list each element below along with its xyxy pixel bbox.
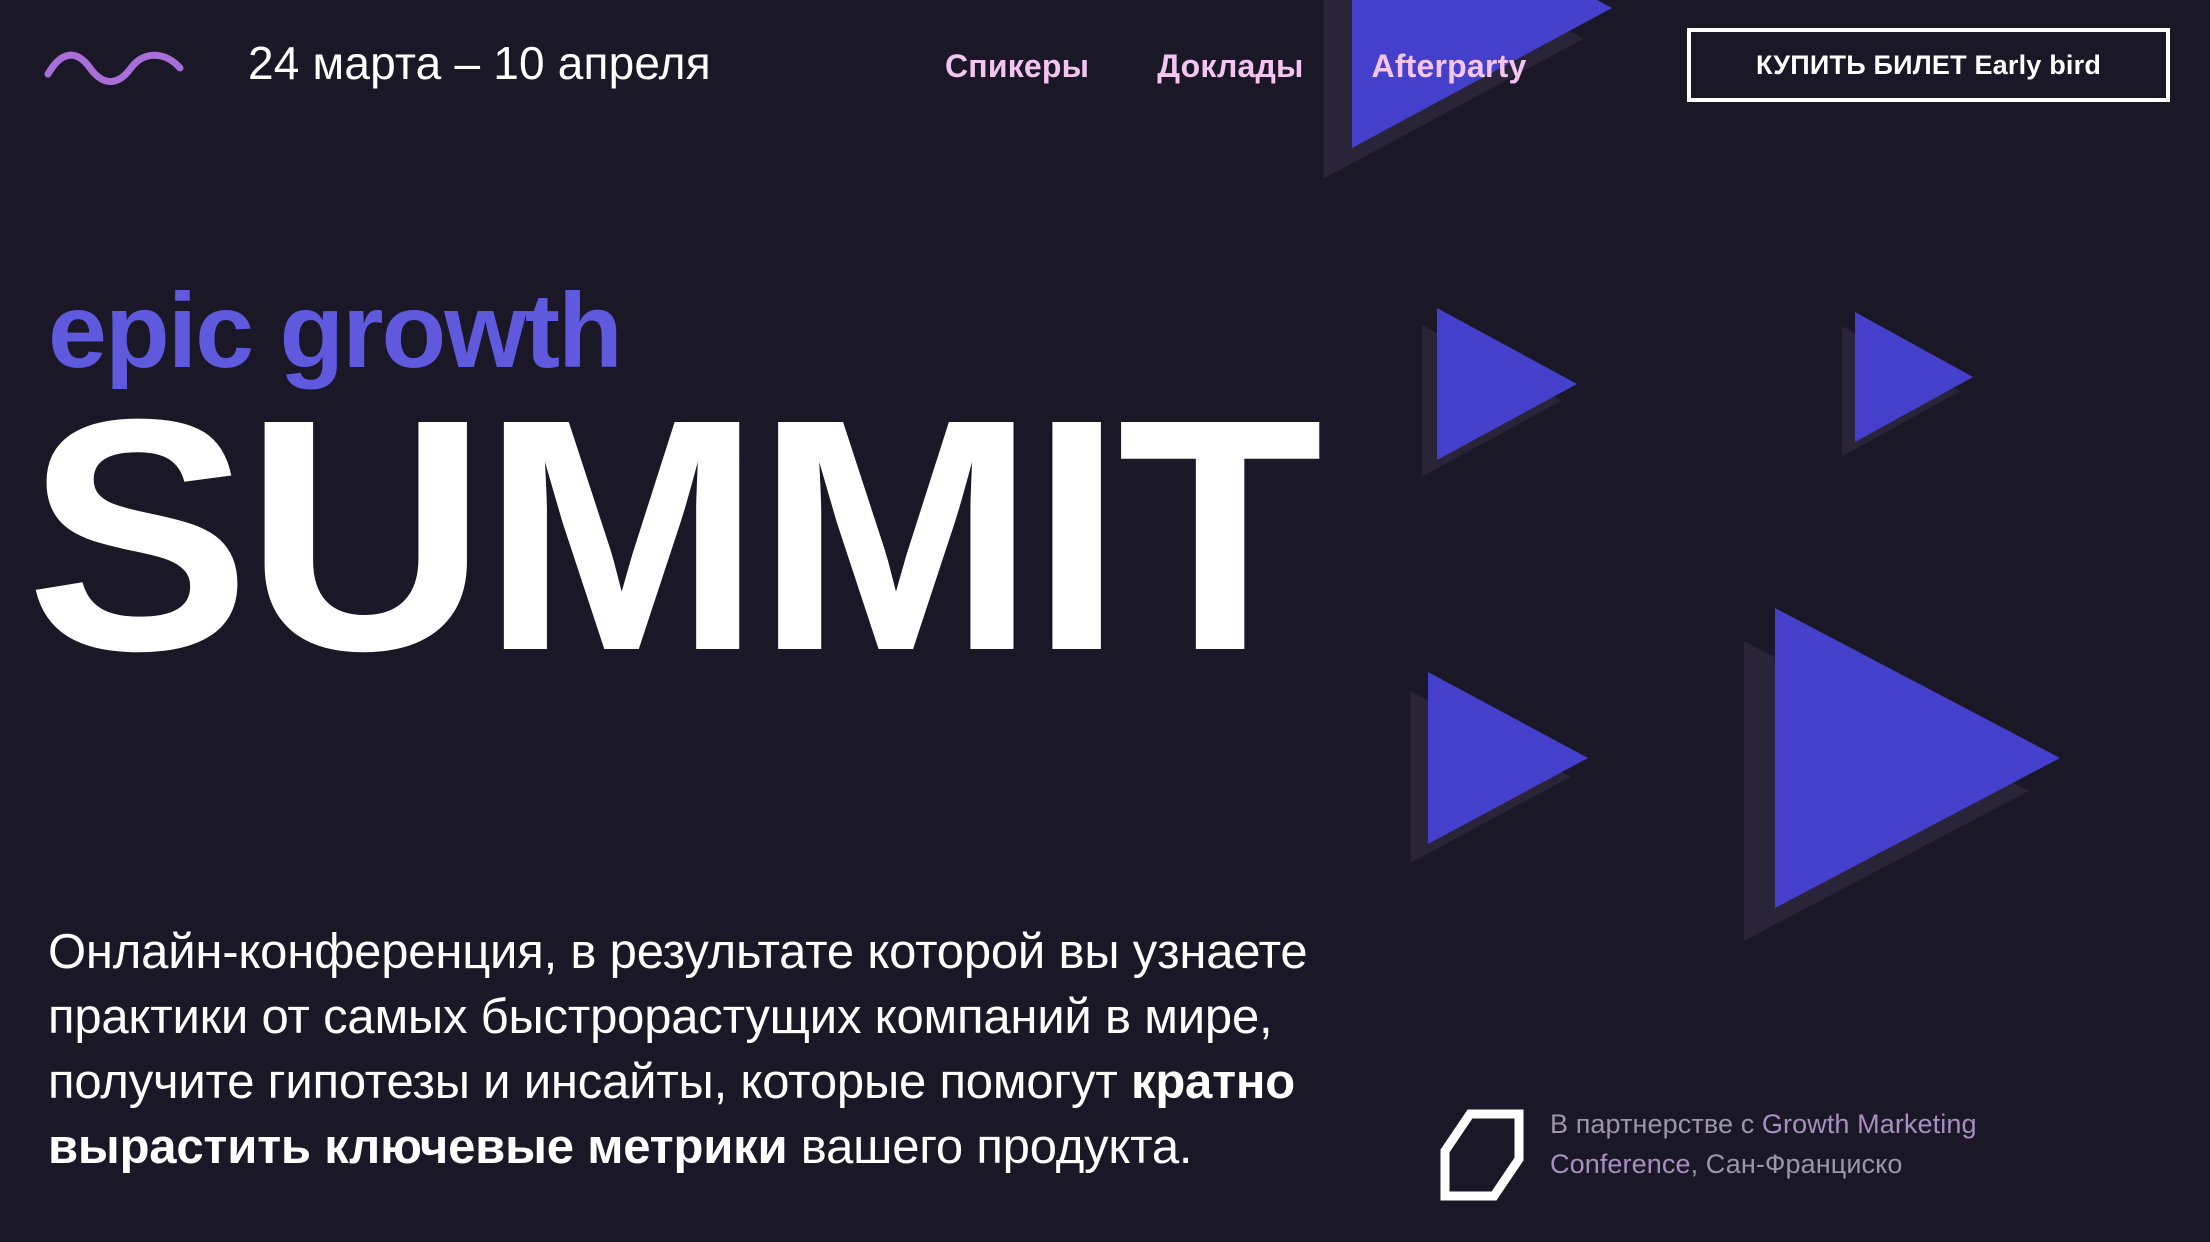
triangle-fill	[1855, 312, 1973, 442]
partner-prefix: В партнерстве с	[1550, 1109, 1762, 1139]
play-triangle-upper-left	[1437, 308, 1577, 460]
partner-text: В партнерстве с Growth Marketing Confere…	[1550, 1105, 2020, 1185]
lede-part1: Онлайн-конференция, в результате которой…	[48, 925, 1307, 1109]
play-triangle-large	[1775, 608, 2060, 908]
triangle-fill	[1428, 672, 1588, 844]
wave-icon[interactable]	[44, 48, 184, 88]
main-nav: Спикеры Доклады Afterparty	[945, 48, 1526, 85]
page-title: SUMMIT	[26, 400, 1317, 671]
nav-link-talks[interactable]: Доклады	[1157, 48, 1303, 85]
hero-description: Онлайн-конференция, в результате которой…	[48, 920, 1448, 1181]
play-triangle-upper-right	[1855, 312, 1973, 442]
event-date-range: 24 марта – 10 апреля	[248, 36, 711, 90]
play-triangle-lower-left	[1428, 672, 1588, 844]
site-header: 24 марта – 10 апреля Спикеры Доклады Aft…	[0, 0, 2210, 130]
hexagon-outline-icon	[1440, 1109, 1524, 1201]
partner-block: В партнерстве с Growth Marketing Confere…	[1440, 1105, 2020, 1201]
lede-part2: вашего продукта.	[787, 1120, 1192, 1174]
triangle-fill	[1437, 308, 1577, 460]
nav-link-speakers[interactable]: Спикеры	[945, 48, 1089, 85]
buy-ticket-label: КУПИТЬ БИЛЕТ Early bird	[1756, 50, 2101, 81]
buy-ticket-button[interactable]: КУПИТЬ БИЛЕТ Early bird	[1687, 28, 2170, 102]
triangle-fill	[1775, 608, 2060, 908]
partner-suffix: , Сан-Франциско	[1691, 1149, 1903, 1179]
nav-link-afterparty[interactable]: Afterparty	[1372, 48, 1527, 85]
hero-page: 24 марта – 10 апреля Спикеры Доклады Aft…	[0, 0, 2210, 1242]
